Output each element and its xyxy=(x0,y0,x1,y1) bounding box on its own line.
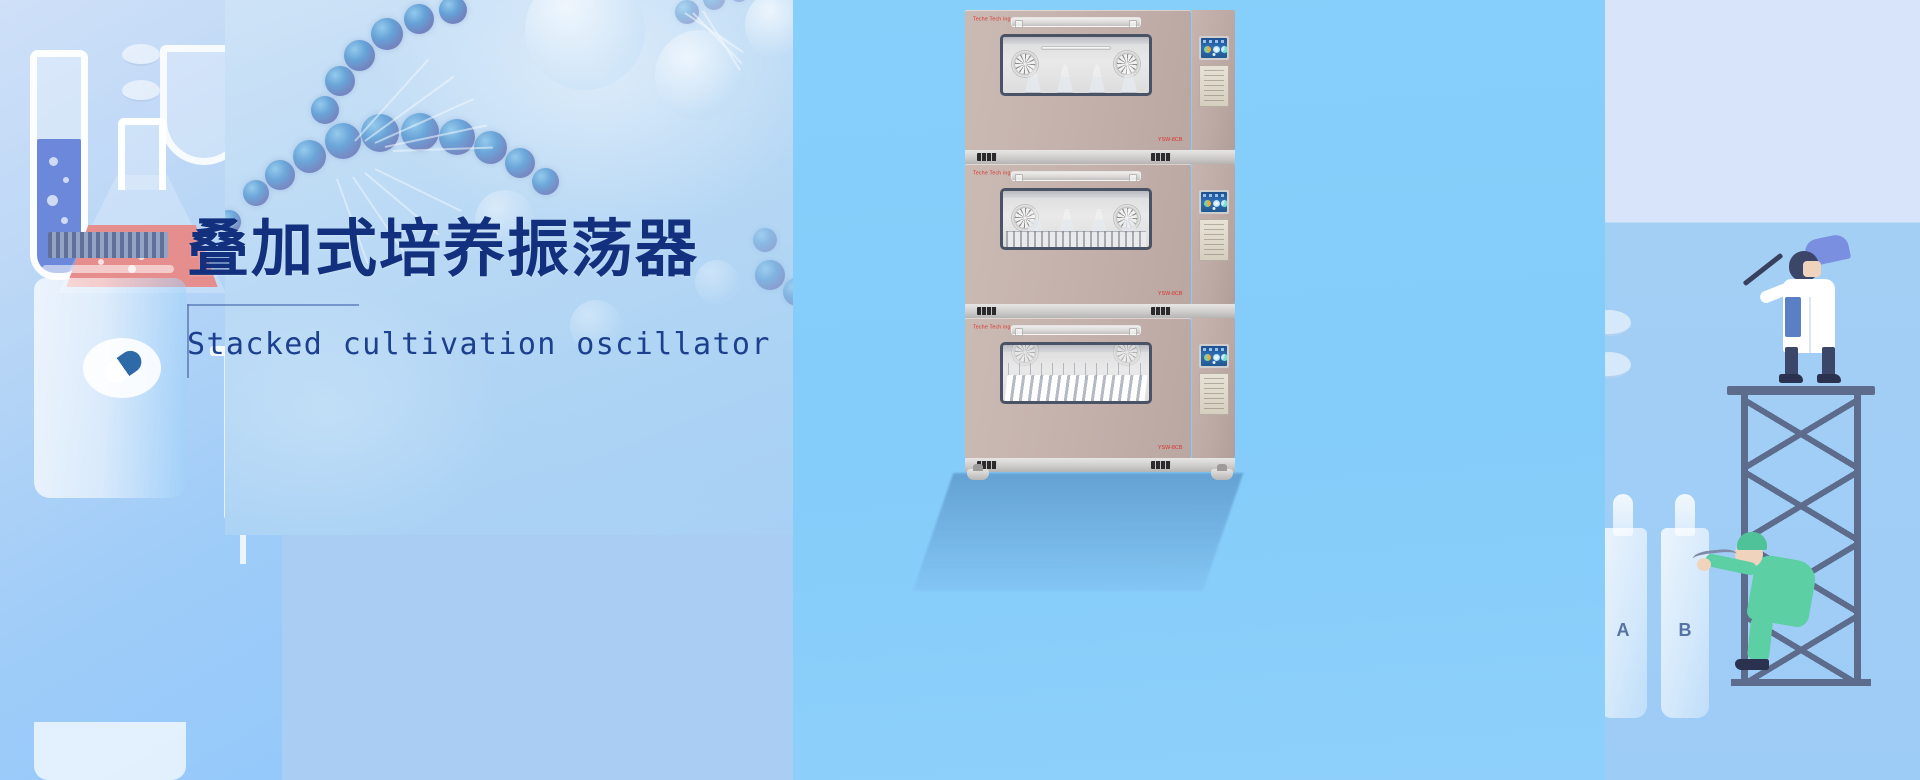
bottle-label-band xyxy=(34,722,186,780)
shaker-unit-bottom[interactable]: Teche Tech ing YSW-8CB xyxy=(965,318,1235,470)
chamber-window xyxy=(1000,342,1152,404)
vent-grille xyxy=(977,153,997,161)
home-indicator xyxy=(1213,207,1216,210)
fan-icon xyxy=(1114,342,1140,365)
vent-grille xyxy=(1151,307,1171,315)
tablet-icon xyxy=(122,80,160,102)
unit-body: Teche Tech ing YSW-8CB xyxy=(965,318,1191,458)
ampoule-a: A xyxy=(1605,528,1647,718)
tablet-icon xyxy=(122,44,160,66)
temperature-icon xyxy=(1204,46,1211,53)
unit-base xyxy=(965,304,1235,318)
test-tube-rack-row xyxy=(1003,367,1149,401)
spec-label xyxy=(1199,373,1229,415)
bottle-collar xyxy=(42,265,174,273)
temperature-icon xyxy=(1204,200,1211,207)
face xyxy=(1803,261,1821,277)
caster-foot xyxy=(1211,469,1233,480)
control-panel[interactable] xyxy=(1192,10,1235,150)
unit-body: Teche Tech ing YSW-8CB xyxy=(965,164,1191,304)
page-subtitle-en: Stacked cultivation oscillator xyxy=(187,327,771,362)
title-underline xyxy=(187,304,359,306)
ampoule-b-label: B xyxy=(1679,620,1692,641)
temperature-icon xyxy=(1204,354,1211,361)
bottle-label-circle xyxy=(83,338,161,398)
spec-label xyxy=(1199,219,1229,261)
pill-tablet-icons xyxy=(122,44,160,116)
scientist-green-coveralls xyxy=(1733,530,1843,670)
door-handle[interactable] xyxy=(1011,17,1141,27)
home-indicator xyxy=(1213,53,1216,56)
ampoule-a-label: A xyxy=(1617,620,1630,641)
spec-label xyxy=(1199,65,1229,107)
cap xyxy=(1737,532,1767,550)
timer-icon xyxy=(1221,200,1227,207)
tower-brace xyxy=(1741,398,1861,470)
brand-text: Teche Tech ing xyxy=(973,324,1011,330)
leg xyxy=(1747,617,1773,661)
timer-icon xyxy=(1221,46,1227,53)
legs xyxy=(1785,347,1835,383)
unit-base xyxy=(965,150,1235,164)
brand-text: Teche Tech ing xyxy=(973,16,1011,22)
lcd-screen[interactable] xyxy=(1199,344,1229,368)
model-text: YSW-8CB xyxy=(1157,136,1182,142)
door-handle[interactable] xyxy=(1011,325,1141,335)
model-text: YSW-8CB xyxy=(1157,444,1182,450)
brand-text: Teche Tech ing xyxy=(973,170,1011,176)
tablet-icon xyxy=(1605,352,1631,378)
capsule-pill-icon xyxy=(100,347,145,388)
chamber-window xyxy=(1000,34,1152,96)
machine-feet xyxy=(965,468,1235,480)
shaker-unit-top[interactable]: Teche Tech ing YSW-8CB xyxy=(965,10,1235,162)
telescope-icon xyxy=(1743,253,1784,286)
shaker-unit-middle[interactable]: Teche Tech ing YSW-8CB xyxy=(965,164,1235,316)
test-tube-rack xyxy=(1005,375,1148,401)
unit-body: Teche Tech ing YSW-8CB xyxy=(965,10,1191,150)
chamber-top-bar xyxy=(1003,37,1149,44)
shoe xyxy=(1735,659,1769,670)
speed-icon xyxy=(1213,200,1220,207)
stacked-incubator-shaker: Teche Tech ing YSW-8CB xyxy=(965,10,1250,490)
lcd-screen[interactable] xyxy=(1199,36,1229,60)
hero-banner: Teche Tech ing YSW-8CB xyxy=(0,0,1920,780)
bottle-cap xyxy=(48,232,168,258)
shoe xyxy=(1779,374,1803,383)
control-panel[interactable] xyxy=(1192,318,1235,458)
shirt xyxy=(1785,297,1801,337)
chamber-lamp xyxy=(1041,46,1111,50)
vent-grille xyxy=(1151,153,1171,161)
fan-icon xyxy=(1012,342,1038,365)
chamber-top-bar xyxy=(1003,191,1149,198)
headline-block: 叠加式培养振荡器 Stacked cultivation oscillator xyxy=(187,218,771,362)
scientist-white-coat xyxy=(1755,235,1871,395)
title-tick xyxy=(187,304,189,378)
flask-row xyxy=(1003,213,1149,247)
chamber-window xyxy=(1000,188,1152,250)
tablet-icon xyxy=(1605,310,1631,336)
page-title-cn: 叠加式培养振荡器 xyxy=(187,218,771,283)
scientists-illustration: A B xyxy=(1605,0,1920,780)
sample-rack xyxy=(1006,231,1146,247)
shoe xyxy=(1817,374,1841,383)
tablet-icons-right xyxy=(1605,310,1631,394)
speed-icon xyxy=(1213,354,1220,361)
medicine-bottle-icon xyxy=(34,278,186,498)
control-panel[interactable] xyxy=(1192,164,1235,304)
speed-icon xyxy=(1213,46,1220,53)
product-panel: Teche Tech ing YSW-8CB xyxy=(793,0,1605,780)
home-indicator xyxy=(1213,361,1216,364)
product-shadow xyxy=(913,473,1244,591)
tower-footing xyxy=(1731,679,1871,686)
lcd-screen[interactable] xyxy=(1199,190,1229,214)
caster-foot xyxy=(967,469,989,480)
flask-row xyxy=(1003,59,1149,93)
door-handle[interactable] xyxy=(1011,171,1141,181)
model-text: YSW-8CB xyxy=(1157,290,1182,296)
vent-grille xyxy=(977,307,997,315)
timer-icon xyxy=(1221,354,1227,361)
